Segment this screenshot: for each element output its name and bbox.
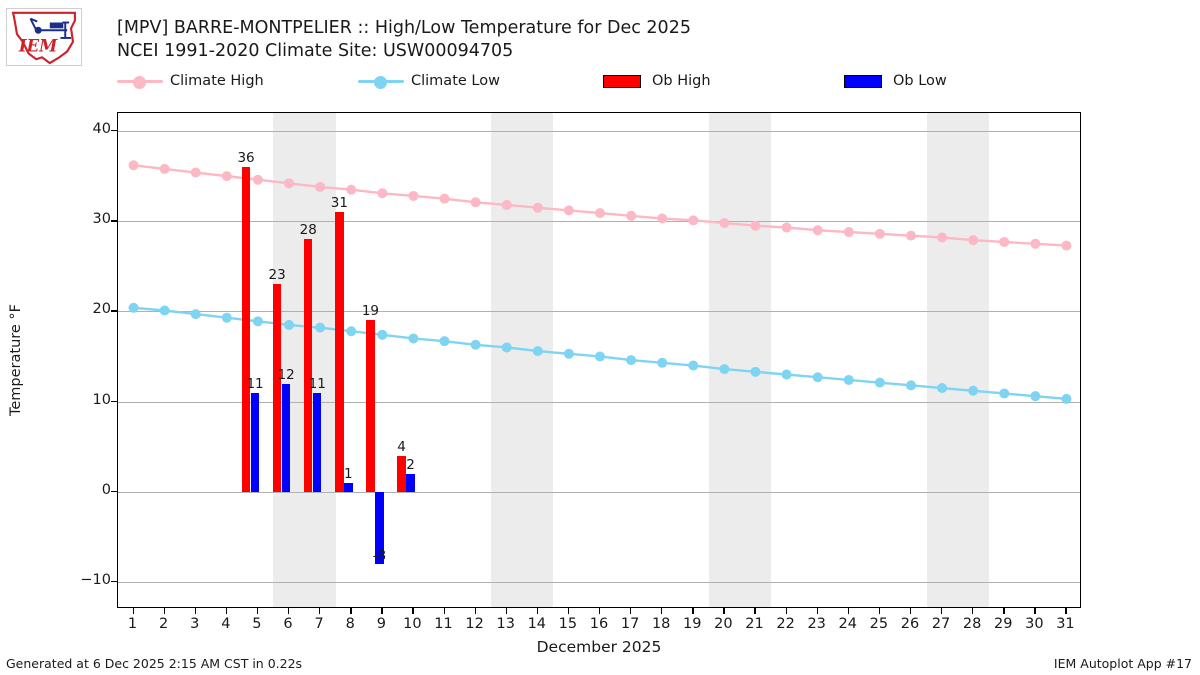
climate-low-point	[968, 386, 978, 396]
x-tick-label: 2	[159, 616, 168, 632]
legend-item-climate-low[interactable]: Climate Low	[358, 72, 599, 90]
climate-low-point	[657, 358, 667, 368]
bar-value-label: 23	[269, 267, 286, 283]
x-tick-label: 29	[994, 616, 1012, 632]
climate-high-point	[719, 218, 729, 228]
climate-high-point	[253, 175, 263, 185]
y-tick-mark	[111, 130, 117, 131]
climate-low-point	[160, 305, 170, 315]
climate-low-point	[1061, 394, 1071, 404]
x-tick-label: 13	[496, 616, 514, 632]
climate-low-point	[284, 320, 294, 330]
climate-high-point	[160, 164, 170, 174]
legend-swatch-line	[117, 72, 163, 90]
climate-high-point	[813, 225, 823, 235]
x-tick-label: 14	[528, 616, 546, 632]
x-tick-label: 23	[807, 616, 825, 632]
x-tick-mark	[226, 608, 227, 614]
y-tick-mark	[111, 310, 117, 311]
legend-item-ob-high[interactable]: Ob High	[599, 72, 840, 90]
x-tick-label: 30	[1025, 616, 1043, 632]
ob-low-bar	[344, 483, 353, 492]
climate-low-point	[782, 370, 792, 380]
legend-label: Ob Low	[893, 73, 947, 89]
climate-high-point	[657, 214, 667, 224]
bar-value-label: -8	[373, 548, 386, 564]
x-tick-mark	[910, 608, 911, 614]
climate-low-point	[595, 351, 605, 361]
y-tick-mark	[111, 220, 117, 221]
x-tick-label: 31	[1056, 616, 1074, 632]
x-tick-label: 11	[434, 616, 452, 632]
climate-high-point	[937, 232, 947, 242]
x-tick-mark	[133, 608, 134, 614]
x-tick-label: 22	[776, 616, 794, 632]
climate-high-point	[968, 235, 978, 245]
x-tick-mark	[786, 608, 787, 614]
x-tick-label: 4	[221, 616, 230, 632]
climate-high-point	[440, 194, 450, 204]
legend-label: Climate Low	[411, 73, 500, 89]
y-tick-label: 30	[93, 211, 111, 227]
bar-value-label: 36	[237, 150, 254, 166]
bar-value-label: 31	[331, 195, 348, 211]
bar-value-label: 4	[397, 439, 406, 455]
x-tick-mark	[723, 608, 724, 614]
climate-high-point	[533, 203, 543, 213]
x-tick-mark	[692, 608, 693, 614]
x-tick-label: 10	[403, 616, 421, 632]
climate-high-point	[782, 223, 792, 233]
legend-swatch-rect	[840, 72, 886, 90]
climate-low-point	[626, 355, 636, 365]
x-tick-mark	[381, 608, 382, 614]
ob-high-bar	[273, 284, 282, 491]
climate-low-point	[377, 330, 387, 340]
legend-item-climate-high[interactable]: Climate High	[117, 72, 358, 90]
x-tick-mark	[817, 608, 818, 614]
climate-low-point	[533, 346, 543, 356]
x-tick-label: 28	[963, 616, 981, 632]
bar-value-label: 1	[344, 466, 353, 482]
climate-high-point	[844, 227, 854, 237]
x-tick-label: 25	[870, 616, 888, 632]
x-tick-label: 17	[621, 616, 639, 632]
y-tick-label: 0	[102, 482, 111, 498]
x-tick-mark	[506, 608, 507, 614]
x-tick-label: 7	[315, 616, 324, 632]
x-tick-label: 9	[377, 616, 386, 632]
climate-low-point	[315, 323, 325, 333]
series-layer	[118, 113, 1082, 609]
x-tick-mark	[630, 608, 631, 614]
x-tick-mark	[1034, 608, 1035, 614]
chart-title-block: [MPV] BARRE-MONTPELIER :: High/Low Tempe…	[117, 17, 977, 63]
footer-generated: Generated at 6 Dec 2025 2:15 AM CST in 0…	[6, 656, 302, 671]
y-tick-label: 10	[93, 392, 111, 408]
x-tick-mark	[879, 608, 880, 614]
bar-value-label: 28	[300, 222, 317, 238]
climate-high-point	[906, 231, 916, 241]
climate-low-point	[471, 340, 481, 350]
climate-low-point	[844, 375, 854, 385]
climate-low-point	[502, 342, 512, 352]
x-tick-label: 1	[128, 616, 137, 632]
x-tick-mark	[288, 608, 289, 614]
climate-high-point	[346, 185, 356, 195]
x-tick-mark	[1065, 608, 1066, 614]
legend-label: Ob High	[652, 73, 711, 89]
x-tick-mark	[475, 608, 476, 614]
climate-low-point	[999, 388, 1009, 398]
chart-subtitle: NCEI 1991-2020 Climate Site: USW00094705	[117, 40, 977, 63]
x-tick-mark	[599, 608, 600, 614]
y-axis-label: Temperature °F	[0, 0, 36, 675]
x-tick-mark	[1003, 608, 1004, 614]
x-tick-label: 3	[190, 616, 199, 632]
climate-high-point	[1030, 239, 1040, 249]
legend-swatch-line	[358, 72, 404, 90]
chart-legend: Climate HighClimate LowOb HighOb Low	[117, 68, 1081, 94]
chart-page: IEM [MPV] BARRE-MONTPELIER :: High/Low T…	[0, 0, 1200, 675]
climate-high-point	[284, 178, 294, 188]
climate-high-point	[875, 229, 885, 239]
x-tick-label: 20	[714, 616, 732, 632]
y-tick-label: −10	[80, 572, 111, 588]
x-tick-label: 6	[283, 616, 292, 632]
x-tick-mark	[164, 608, 165, 614]
x-tick-label: 27	[932, 616, 950, 632]
ob-high-bar	[242, 167, 251, 492]
x-tick-mark	[537, 608, 538, 614]
climate-low-point	[688, 361, 698, 371]
climate-low-point	[129, 303, 139, 313]
x-tick-label: 8	[346, 616, 355, 632]
climate-low-point	[813, 372, 823, 382]
bar-value-label: 11	[246, 376, 263, 392]
bar-value-label: 12	[278, 367, 295, 383]
climate-low-point	[750, 367, 760, 377]
x-tick-label: 21	[745, 616, 763, 632]
x-tick-label: 12	[465, 616, 483, 632]
x-tick-label: 15	[559, 616, 577, 632]
climate-high-point	[595, 208, 605, 218]
climate-high-line	[134, 165, 1067, 245]
climate-low-point	[937, 383, 947, 393]
climate-high-point	[502, 200, 512, 210]
x-tick-mark	[754, 608, 755, 614]
climate-low-point	[408, 333, 418, 343]
climate-high-point	[377, 188, 387, 198]
chart-title: [MPV] BARRE-MONTPELIER :: High/Low Tempe…	[117, 17, 977, 40]
climate-low-point	[906, 380, 916, 390]
climate-low-point	[346, 326, 356, 336]
ob-high-bar	[304, 239, 313, 492]
ob-high-bar	[397, 456, 406, 492]
y-tick-label: 40	[93, 121, 111, 137]
bar-value-label: 19	[362, 303, 379, 319]
x-axis-label: December 2025	[117, 638, 1081, 656]
climate-high-point	[471, 197, 481, 207]
x-tick-mark	[941, 608, 942, 614]
climate-high-point	[564, 205, 574, 215]
x-tick-mark	[195, 608, 196, 614]
climate-low-point	[564, 349, 574, 359]
x-tick-label: 24	[839, 616, 857, 632]
ob-low-bar	[251, 393, 260, 492]
x-tick-mark	[568, 608, 569, 614]
x-tick-label: 5	[252, 616, 261, 632]
x-tick-label: 19	[683, 616, 701, 632]
ob-high-bar	[335, 212, 344, 492]
y-tick-label: 20	[93, 301, 111, 317]
y-axis-label-text: Temperature °F	[8, 304, 24, 416]
climate-high-point	[750, 221, 760, 231]
ob-low-bar	[313, 393, 322, 492]
climate-high-point	[999, 237, 1009, 247]
x-tick-label: 18	[652, 616, 670, 632]
y-tick-mark	[111, 401, 117, 402]
x-tick-label: 16	[590, 616, 608, 632]
climate-high-point	[626, 211, 636, 221]
climate-low-point	[440, 336, 450, 346]
legend-item-ob-low[interactable]: Ob Low	[840, 72, 1081, 90]
ob-high-bar	[366, 320, 375, 491]
climate-low-point	[191, 309, 201, 319]
ob-low-bar	[282, 384, 291, 492]
climate-high-point	[408, 191, 418, 201]
x-tick-mark	[972, 608, 973, 614]
climate-low-point	[1030, 391, 1040, 401]
y-tick-mark	[111, 581, 117, 582]
climate-low-point	[875, 378, 885, 388]
x-tick-mark	[257, 608, 258, 614]
x-tick-mark	[661, 608, 662, 614]
x-tick-mark	[319, 608, 320, 614]
x-tick-mark	[848, 608, 849, 614]
legend-label: Climate High	[170, 73, 264, 89]
climate-low-point	[253, 316, 263, 326]
bar-value-label: 2	[406, 457, 415, 473]
footer-app: IEM Autoplot App #17	[1054, 656, 1192, 671]
x-tick-mark	[350, 608, 351, 614]
climate-high-point	[222, 171, 232, 181]
y-tick-mark	[111, 491, 117, 492]
x-tick-mark	[412, 608, 413, 614]
bar-value-label: 11	[309, 376, 326, 392]
climate-low-point	[222, 313, 232, 323]
legend-swatch-rect	[599, 72, 645, 90]
x-tick-label: 26	[901, 616, 919, 632]
plot-area: 36112312281131119-842	[117, 112, 1081, 608]
climate-high-point	[315, 182, 325, 192]
climate-high-point	[191, 168, 201, 178]
climate-high-point	[1061, 241, 1071, 251]
climate-high-point	[129, 160, 139, 170]
climate-high-point	[688, 215, 698, 225]
ob-low-bar	[406, 474, 415, 492]
climate-low-point	[719, 364, 729, 374]
x-tick-mark	[444, 608, 445, 614]
